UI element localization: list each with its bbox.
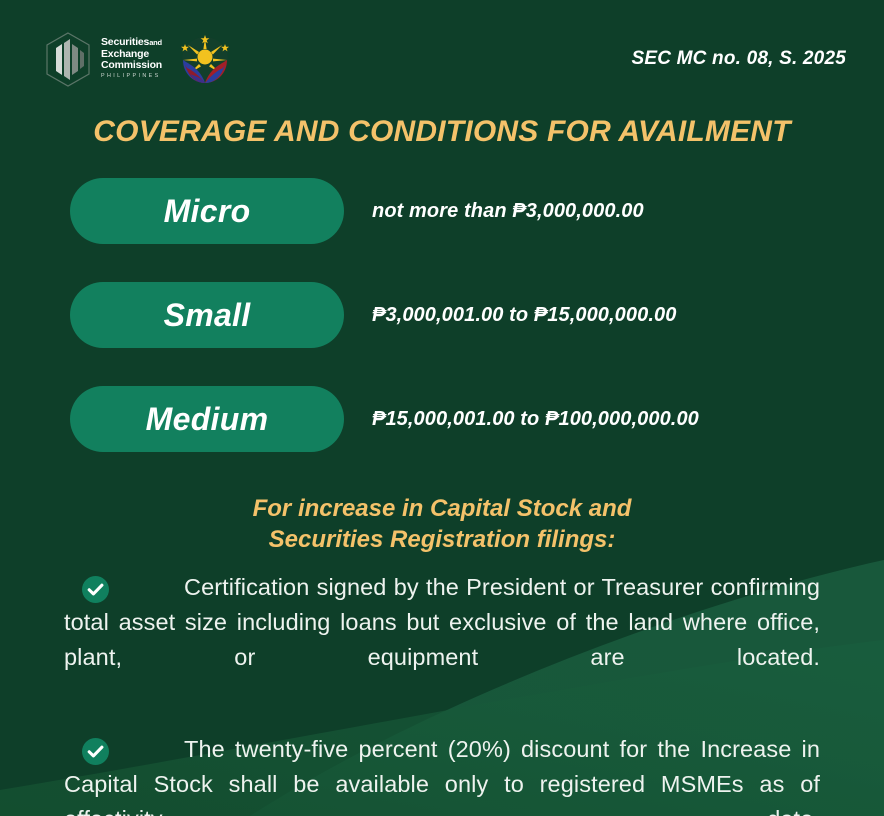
sec-logo: Securitiesand Exchange Commission PHILIP… [44,32,162,87]
category-label-micro: Micro [164,195,251,227]
section-heading-line2: Securities Registration filings: [0,524,884,555]
poster-header: Securitiesand Exchange Commission PHILIP… [0,26,884,92]
sec-wordmark-line1: Securitiesand [101,37,162,49]
category-range-micro: not more than ₱3,000,000.00 [372,178,644,244]
poster-canvas: Securitiesand Exchange Commission PHILIP… [0,0,884,816]
section-heading-line1: For increase in Capital Stock and [0,493,884,524]
category-list: Micro not more than ₱3,000,000.00 Small … [0,178,884,490]
sec-wordmark-line3: Commission [101,60,162,72]
category-range-small: ₱3,000,001.00 to ₱15,000,000.00 [372,282,676,348]
logo-group: Securitiesand Exchange Commission PHILIP… [44,32,232,87]
category-label-medium: Medium [146,403,269,435]
philippines-seal-icon [178,32,232,86]
category-row-medium: Medium ₱15,000,001.00 to ₱100,000,000.00 [0,386,884,490]
category-pill-micro: Micro [70,178,344,244]
category-pill-small: Small [70,282,344,348]
conditions-list: Certification signed by the President or… [64,570,820,816]
list-item: Certification signed by the President or… [64,570,820,710]
section-heading: For increase in Capital Stock and Securi… [0,493,884,555]
sec-wordmark: Securitiesand Exchange Commission PHILIP… [101,37,162,81]
condition-text-2: The twenty-five percent (20%) discount f… [64,732,820,816]
condition-text-1: Certification signed by the President or… [64,570,820,710]
circular-reference: SEC MC no. 08, S. 2025 [631,48,846,70]
check-circle-icon [82,576,109,603]
sec-wordmark-subtitle: PHILIPPINES [101,72,162,81]
sec-hexagon-logo-icon [44,32,92,87]
category-label-small: Small [164,299,251,331]
category-pill-medium: Medium [70,386,344,452]
category-range-medium: ₱15,000,001.00 to ₱100,000,000.00 [372,386,699,452]
list-item: The twenty-five percent (20%) discount f… [64,732,820,816]
category-row-micro: Micro not more than ₱3,000,000.00 [0,178,884,282]
category-row-small: Small ₱3,000,001.00 to ₱15,000,000.00 [0,282,884,386]
check-circle-icon [82,738,109,765]
page-title: COVERAGE AND CONDITIONS FOR AVAILMENT [0,115,884,149]
